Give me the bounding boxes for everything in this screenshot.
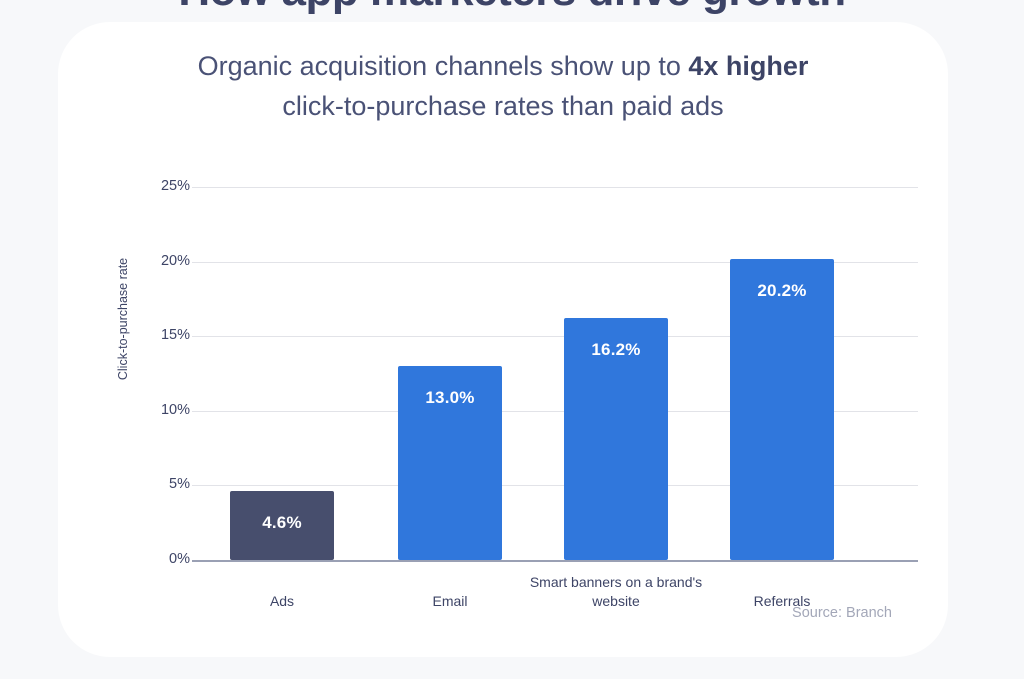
bar-value-smart-banners: 16.2% xyxy=(564,340,668,360)
cutoff-heading-text: How app marketers drive growth xyxy=(0,0,1024,16)
bar-referrals[interactable]: 20.2% xyxy=(730,259,834,560)
bar-smart-banners[interactable]: 16.2% xyxy=(564,318,668,560)
bar-group-email: 13.0% Email xyxy=(360,22,540,657)
bar-value-email: 13.0% xyxy=(398,388,502,408)
category-label-ads: Ads xyxy=(192,592,372,611)
category-label-email: Email xyxy=(360,592,540,611)
bar-value-ads: 4.6% xyxy=(230,513,334,533)
ytick-label-15: 15% xyxy=(161,327,190,343)
y-axis-title: Click-to-purchase rate xyxy=(116,209,130,429)
bar-group-referrals: 20.2% Referrals xyxy=(692,22,872,657)
ytick-label-10: 10% xyxy=(161,402,190,418)
ytick-label-5: 5% xyxy=(169,476,190,492)
bar-email[interactable]: 13.0% xyxy=(398,366,502,560)
source-attribution: Source: Branch xyxy=(792,605,892,621)
bars-layer: 4.6% Ads 13.0% Email 16.2% Smart banners… xyxy=(192,22,918,657)
cutoff-heading-fragment: How app marketers drive growth xyxy=(0,0,1024,22)
bar-group-smart-banners: 16.2% Smart banners on a brand's website xyxy=(526,22,706,657)
ytick-label-20: 20% xyxy=(161,253,190,269)
chart-plot-area: Click-to-purchase rate 25% 20% 15% 10% 5… xyxy=(58,22,948,657)
bar-value-referrals: 20.2% xyxy=(730,281,834,301)
category-label-smart-banners: Smart banners on a brand's website xyxy=(526,573,706,611)
bar-group-ads: 4.6% Ads xyxy=(192,22,372,657)
ytick-label-0: 0% xyxy=(169,551,190,567)
bar-ads[interactable]: 4.6% xyxy=(230,491,334,560)
chart-card: Organic acquisition channels show up to … xyxy=(58,22,948,657)
ytick-label-25: 25% xyxy=(161,178,190,194)
